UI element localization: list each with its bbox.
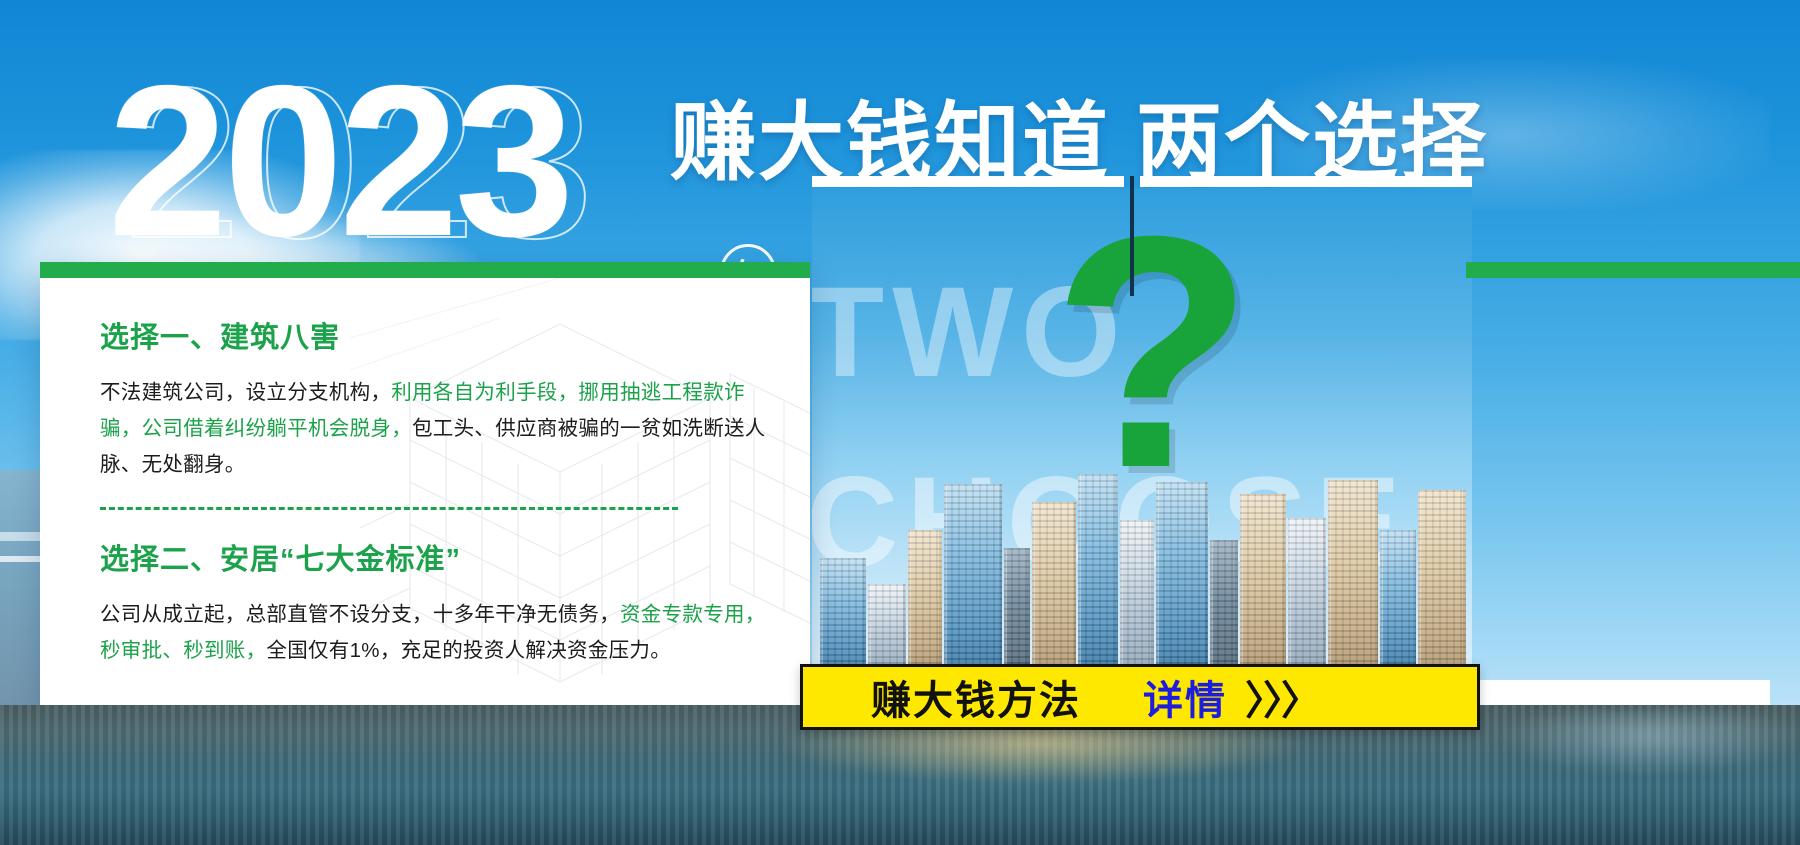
section-1-body: 不法建筑公司，设立分支机构，利用各自为利手段，挪用抽逃工程款诈骗，公司借着纠纷躺… <box>100 375 772 483</box>
chevron-right-icon: 〉〉〉 <box>1245 668 1319 726</box>
section-divider <box>100 507 678 510</box>
section-2-text-c: 全国仅有1%，充足的投资人解决资金压力。 <box>266 639 671 662</box>
cta-details-link[interactable]: 详情 <box>1143 668 1227 726</box>
choices-card: 选择一、建筑八害 不法建筑公司，设立分支机构，利用各自为利手段，挪用抽逃工程款诈… <box>40 262 810 710</box>
city-photo-panel: TWO CHOOSE ? <box>812 188 1472 680</box>
underline-segment-right <box>1140 176 1472 187</box>
strip-glow-right <box>1500 711 1800 775</box>
cta-main-label: 赚大钱方法 <box>871 668 1081 726</box>
section-2-text-a: 公司从成立起，总部直管不设分支，十多年干净无债务， <box>100 603 620 626</box>
section-2-title: 选择二、安居“七大金标准” <box>100 536 790 578</box>
headline-underline <box>812 176 1472 188</box>
question-mark-icon: ? <box>1052 202 1254 502</box>
panel-divider <box>1130 176 1134 296</box>
section-1-text-a: 不法建筑公司，设立分支机构， <box>100 381 391 404</box>
section-2-body: 公司从成立起，总部直管不设分支，十多年干净无债务，资金专款专用，秒审批、秒到账，… <box>100 597 772 669</box>
underline-segment-left <box>812 176 1124 187</box>
details-cta-bar[interactable]: 赚大钱方法 详情 〉〉〉 <box>800 664 1480 730</box>
card-top-green-bar <box>40 262 810 278</box>
card-content: 选择一、建筑八害 不法建筑公司，设立分支机构，利用各自为利手段，挪用抽逃工程款诈… <box>100 314 790 669</box>
right-green-accent-bar <box>1466 262 1800 278</box>
section-1-title: 选择一、建筑八害 <box>100 314 790 356</box>
poster-stage: 2023 2023 年 赚大钱知道两个选择 TWO CHOOSE <box>0 0 1800 845</box>
